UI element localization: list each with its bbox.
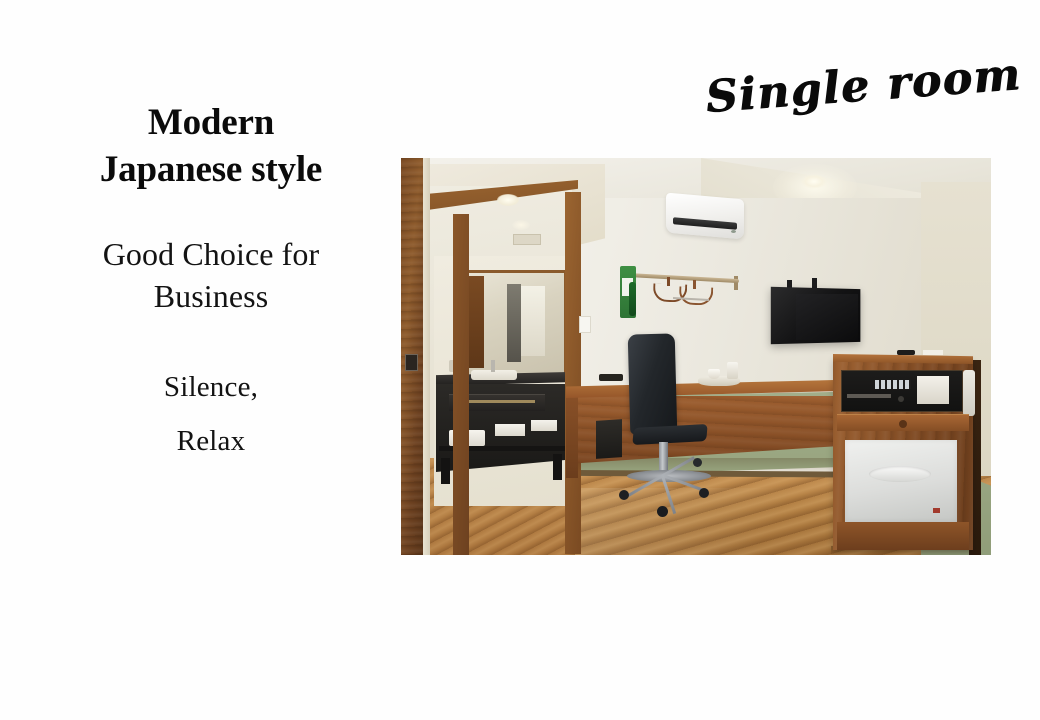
folded-towel bbox=[495, 424, 525, 436]
secondary-door-frame bbox=[453, 214, 469, 555]
cabinet-drawer-knob bbox=[899, 420, 907, 428]
room-photo bbox=[401, 158, 991, 555]
light-switch bbox=[579, 316, 591, 333]
chair-caster bbox=[619, 490, 629, 500]
air-conditioner-indicator bbox=[731, 230, 736, 233]
vanity-leg bbox=[553, 454, 562, 480]
desk-item bbox=[599, 374, 623, 381]
ceiling-downlight bbox=[801, 174, 827, 189]
mirror-reflection-curtain bbox=[507, 284, 521, 362]
faucet bbox=[491, 360, 495, 372]
room-door-trim bbox=[565, 192, 581, 554]
tagline: Silence, Relax bbox=[38, 361, 384, 468]
spray-can bbox=[963, 370, 975, 416]
safe-instruction-label bbox=[917, 376, 949, 404]
office-chair-back bbox=[628, 333, 678, 434]
subline: Good Choice for Business bbox=[38, 234, 384, 317]
amenity-bottle bbox=[629, 282, 636, 316]
subline-line-2: Business bbox=[38, 276, 384, 318]
cup bbox=[708, 369, 720, 379]
chair-caster bbox=[657, 506, 668, 517]
entry-downlight-b bbox=[512, 220, 530, 230]
kettle bbox=[727, 362, 738, 379]
info-card bbox=[923, 350, 943, 355]
headline: Modern Japanese style bbox=[38, 100, 384, 194]
ceiling-vent bbox=[513, 234, 541, 245]
promotional-slide: Modern Japanese style Good Choice for Bu… bbox=[0, 0, 1040, 720]
mini-fridge-handle bbox=[869, 466, 931, 482]
door-edge bbox=[423, 158, 430, 555]
entry-downlight-a bbox=[497, 194, 519, 206]
tv-remote bbox=[897, 350, 915, 355]
chair-caster bbox=[693, 458, 702, 467]
cabinet-kick-panel bbox=[837, 522, 969, 550]
tagline-line-1: Silence, bbox=[38, 361, 384, 415]
folded-towel bbox=[531, 420, 557, 431]
tagline-line-2: Relax bbox=[38, 415, 384, 469]
headline-line-1: Modern bbox=[38, 100, 384, 147]
mini-fridge-badge bbox=[933, 508, 940, 513]
chair-caster bbox=[699, 488, 709, 498]
vanity-leg bbox=[441, 458, 450, 484]
mirror-reflection-window bbox=[521, 286, 545, 356]
subline-line-1: Good Choice for bbox=[38, 234, 384, 276]
script-heading: Single room bbox=[704, 51, 997, 123]
text-column: Modern Japanese style Good Choice for Bu… bbox=[38, 100, 384, 468]
safe-keypad bbox=[875, 380, 911, 389]
safe-brand-text bbox=[847, 394, 891, 398]
light-switch bbox=[405, 354, 418, 371]
safe-knob bbox=[898, 396, 904, 402]
desk-side-panel bbox=[566, 392, 578, 478]
waste-bin bbox=[596, 419, 622, 459]
headline-line-2: Japanese style bbox=[38, 147, 384, 194]
television-screen bbox=[796, 294, 858, 340]
